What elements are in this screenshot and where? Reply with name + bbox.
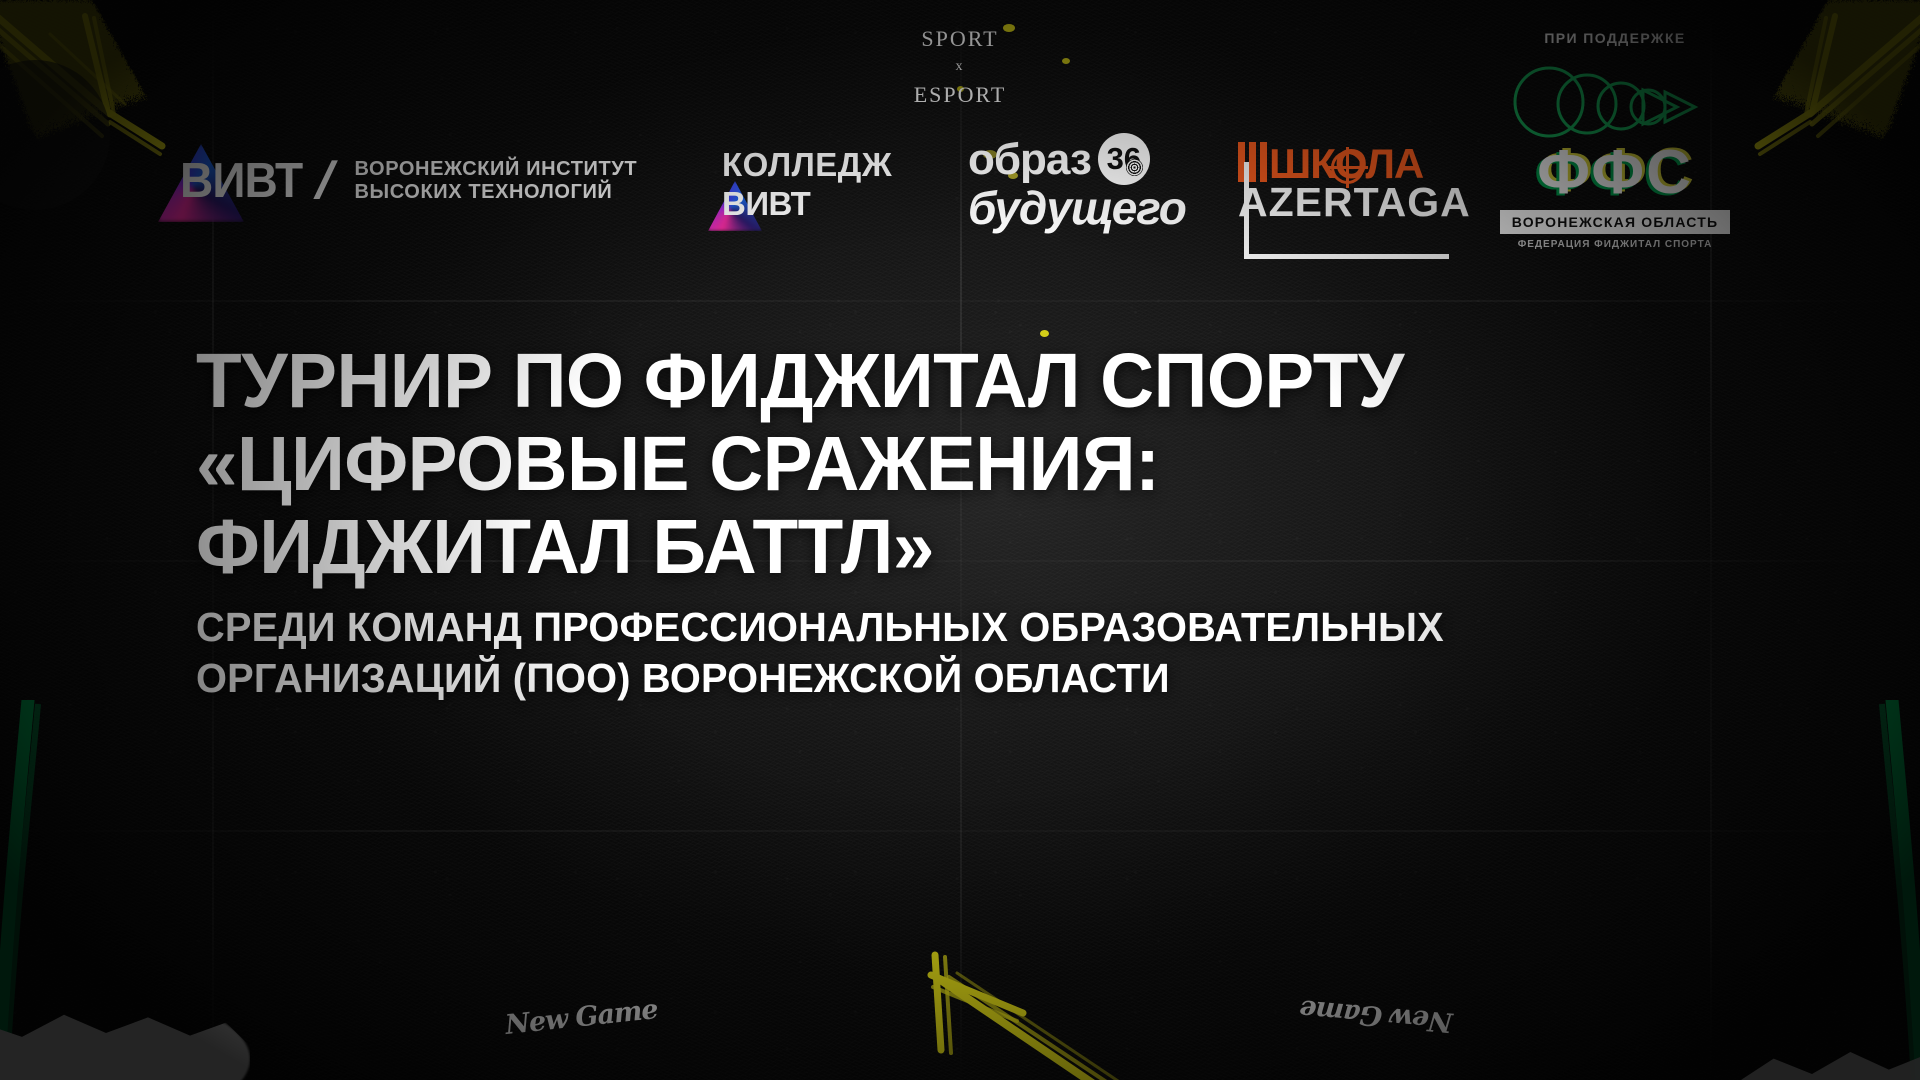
- obraz-region-badge: 36: [1098, 133, 1150, 185]
- college-label: КОЛЛЕДЖ: [722, 148, 892, 181]
- vivt-wordmark: ВИВТ: [180, 157, 302, 206]
- headline-line-3: ФИДЖИТАЛ БАТТЛ»: [196, 506, 1573, 589]
- vivt-mark: ВИВТ /: [180, 152, 333, 210]
- paper-crease-horizontal: [0, 300, 1920, 302]
- logo-vivt[interactable]: ВИВТ / ВОРОНЕЖСКИЙ ИНСТИТУТ ВЫСОКИХ ТЕХН…: [180, 152, 637, 210]
- obraz-line2: будущего: [968, 187, 1186, 231]
- spiral-icon: [1126, 159, 1143, 176]
- college-wordmark: ВИВТ: [722, 187, 810, 220]
- headline-subtitle-line-1: СРЕДИ КОМАНД ПРОФЕССИОНАЛЬНЫХ ОБРАЗОВАТЕ…: [196, 603, 1573, 651]
- ffs-circles-mark: [1500, 62, 1730, 140]
- headline-line-2: «ЦИФРОВЫЕ СРАЖЕНИЯ:: [196, 423, 1573, 506]
- ffs-acronym: ФФС: [1500, 142, 1730, 204]
- logo-college-vivt[interactable]: КОЛЛЕДЖ ВИВТ: [722, 148, 892, 220]
- logo-obraz-budushchego[interactable]: образ 36 будущего: [968, 140, 1186, 231]
- obraz-line1: образ: [968, 140, 1091, 180]
- vivt-slash-icon: /: [311, 155, 340, 207]
- headline-block: ТУРНИР ПО ФИДЖИТАЛ СПОРТУ «ЦИФРОВЫЕ СРАЖ…: [196, 340, 1616, 702]
- headline-line-1: ТУРНИР ПО ФИДЖИТАЛ СПОРТУ: [196, 340, 1573, 423]
- paper-crease-horizontal: [0, 830, 1920, 832]
- sponsor-logo-row: ВИВТ / ВОРОНЕЖСКИЙ ИНСТИТУТ ВЫСОКИХ ТЕХН…: [0, 0, 1920, 270]
- poster-canvas: SPORT x ESPORT ВИВТ / ВОРОНЕЖСКИЙ ИНСТИТ…: [0, 0, 1920, 1080]
- logo-shkola-azertaga[interactable]: ШКОЛА AZERTAGA: [1238, 142, 1471, 223]
- vivt-subtitle: ВОРОНЕЖСКИЙ ИНСТИТУТ ВЫСОКИХ ТЕХНОЛОГИЙ: [355, 158, 638, 204]
- support-label: ПРИ ПОДДЕРЖКЕ: [1500, 30, 1730, 46]
- obraz-top-row: образ 36: [968, 140, 1186, 185]
- ffs-region-label: ВОРОНЕЖСКАЯ ОБЛАСТЬ: [1500, 210, 1730, 234]
- college-wordmark-row: ВИВТ: [722, 187, 892, 220]
- ffs-federation-label: ФЕДЕРАЦИЯ ФИДЖИТАЛ СПОРТА: [1500, 239, 1730, 250]
- headline-subtitle-line-2: ОРГАНИЗАЦИЙ (ПОО) ВОРОНЕЖСКОЙ ОБЛАСТИ: [196, 654, 1573, 702]
- logo-ffs[interactable]: ПРИ ПОДДЕРЖКЕ ФФС ВОРОНЕЖСКАЯ ОБЛАСТЬ ФЕ…: [1500, 30, 1730, 250]
- azertaga-shkola-label: ШКОЛА: [1269, 145, 1423, 184]
